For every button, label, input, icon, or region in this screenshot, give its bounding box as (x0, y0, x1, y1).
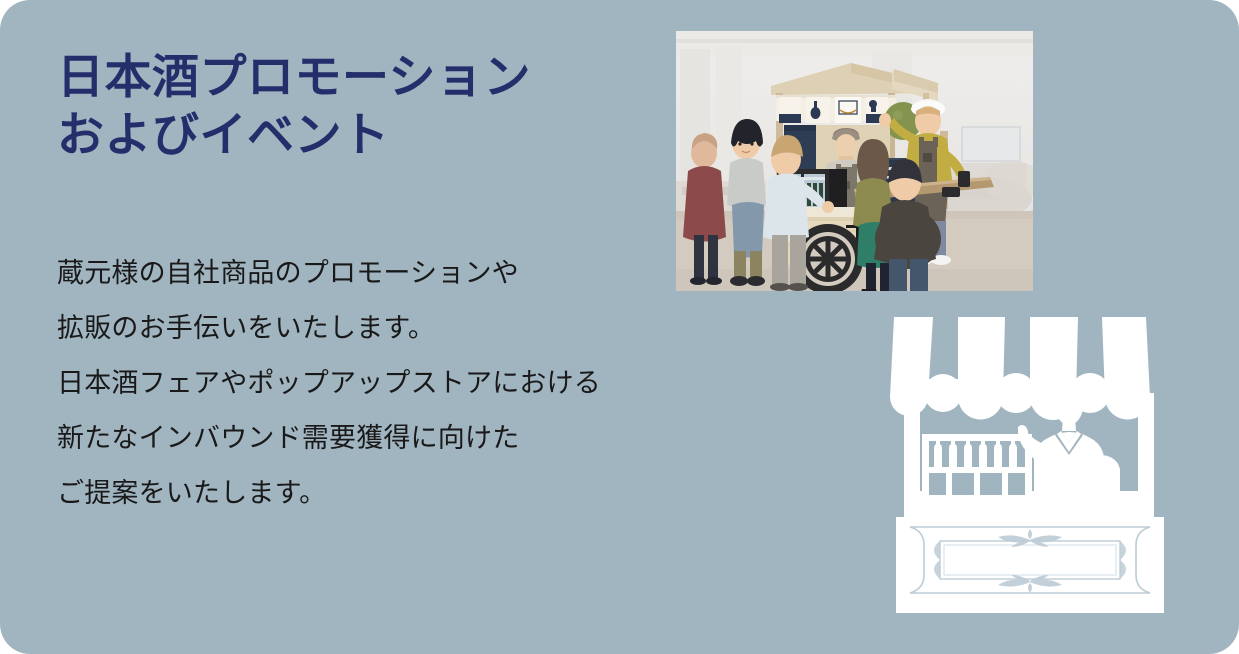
body-text-line-1: 蔵元様の自社商品のプロモーションや (57, 246, 697, 301)
body-text-line-5: ご提案をいたします。 (57, 466, 697, 521)
page-title-line-1: 日本酒プロモーション (57, 48, 677, 106)
body-text-line-2: 拡販のお手伝いをいたします。 (57, 301, 697, 356)
page-title-line-2: およびイベント (57, 106, 677, 164)
sake-cart-event-photo (676, 31, 1033, 291)
market-stall-icon (888, 309, 1172, 621)
body-text: 蔵元様の自社商品のプロモーションや 拡販のお手伝いをいたします。 日本酒フェアや… (57, 246, 697, 521)
promotion-card: 日本酒プロモーション およびイベント 蔵元様の自社商品のプロモーションや 拡販の… (0, 0, 1239, 654)
page-title: 日本酒プロモーション およびイベント (57, 48, 677, 164)
body-text-line-3: 日本酒フェアやポップアップストアにおける (57, 356, 697, 411)
body-text-line-4: 新たなインバウンド需要獲得に向けた (57, 411, 697, 466)
